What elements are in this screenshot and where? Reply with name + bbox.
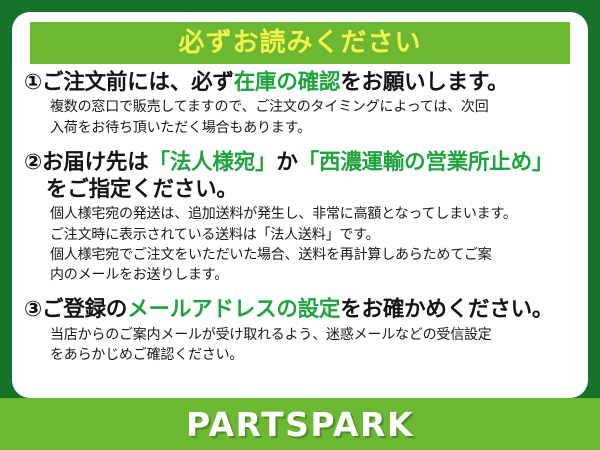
item-2-number: ② <box>24 150 42 175</box>
item-3-heading-highlight: メールアドレスの設定 <box>127 297 340 322</box>
item-2-body-line-3: 個人様宅宛でご注文をいただいた場合、送料を再計算しあらためてご案 <box>50 245 578 265</box>
item-2-heading-highlight-1: 「法人様宛」 <box>149 150 277 175</box>
item-3-body-line-2: をあらかじめご確認ください。 <box>50 345 578 365</box>
item-2-heading-pre: お届け先は <box>42 150 149 175</box>
notice-item-1: ①ご注文前には、必ず在庫の確認をお願いします。 複数の窓口で販売してますので、ご… <box>24 70 578 138</box>
notice-card: 必ずお読みください ①ご注文前には、必ず在庫の確認をお願いします。 複数の窓口で… <box>0 0 600 450</box>
item-1-heading-highlight: 在庫の確認 <box>234 70 341 95</box>
header-banner: 必ずお読みください <box>30 22 570 64</box>
item-1-body-line-2: 入荷をお待ち頂いただく場合もあります。 <box>50 118 578 138</box>
item-3-number: ③ <box>24 297 42 322</box>
page-title: 必ずお読みください <box>178 30 421 56</box>
item-2-heading: ②お届け先は「法人様宛」か「西濃運輸の営業所止め」 <box>24 150 578 176</box>
item-2-body-line-2: ご注文時に表示されている送料は「法人送料」です。 <box>50 225 578 245</box>
item-2-heading-mid: か <box>276 150 297 175</box>
item-1-heading-post: をお願いします。 <box>340 70 508 95</box>
item-1-heading: ①ご注文前には、必ず在庫の確認をお願いします。 <box>24 70 578 96</box>
item-2-heading-highlight-2: 「西濃運輸の営業所止め」 <box>298 150 554 175</box>
item-2-body-line-4: 内のメールをお送りします。 <box>50 265 578 285</box>
item-1-body: 複数の窓口で販売してますので、ご注文のタイミングによっては、次回 入荷をお待ち頂… <box>24 97 578 138</box>
white-panel: 必ずお読みください ①ご注文前には、必ず在庫の確認をお願いします。 複数の窓口で… <box>12 12 588 398</box>
notice-item-3: ③ご登録のメールアドレスの設定をお確かめください。 当店からのご案内メールが受け… <box>24 297 578 365</box>
item-3-heading-pre: ご登録の <box>42 297 127 322</box>
item-1-number: ① <box>24 70 42 95</box>
brand-logo: PARTSPARK <box>186 408 414 441</box>
item-1-body-line-1: 複数の窓口で販売してますので、ご注文のタイミングによっては、次回 <box>50 97 578 117</box>
item-2-body-line-1: 個人様宅宛の発送は、追加送料が発生し、非常に高額となってしまいます。 <box>50 204 578 224</box>
item-1-heading-pre: ご注文前には、必ず <box>42 70 234 95</box>
notice-item-2: ②お届け先は「法人様宛」か「西濃運輸の営業所止め」 をご指定ください。 個人様宅… <box>24 150 578 286</box>
item-2-heading-line-2: をご指定ください。 <box>24 177 578 203</box>
item-3-heading: ③ご登録のメールアドレスの設定をお確かめください。 <box>24 297 578 323</box>
item-3-body-line-1: 当店からのご案内メールが受け取れるよう、迷惑メールなどの受信設定 <box>50 325 578 345</box>
notice-content: ①ご注文前には、必ず在庫の確認をお願いします。 複数の窓口で販売してますので、ご… <box>12 70 588 371</box>
item-3-heading-post: をお確かめください。 <box>340 297 553 322</box>
footer-banner: PARTSPARK <box>0 398 600 450</box>
item-3-body: 当店からのご案内メールが受け取れるよう、迷惑メールなどの受信設定 をあらかじめご… <box>24 325 578 366</box>
item-2-body: 個人様宅宛の発送は、追加送料が発生し、非常に高額となってしまいます。 ご注文時に… <box>24 204 578 285</box>
